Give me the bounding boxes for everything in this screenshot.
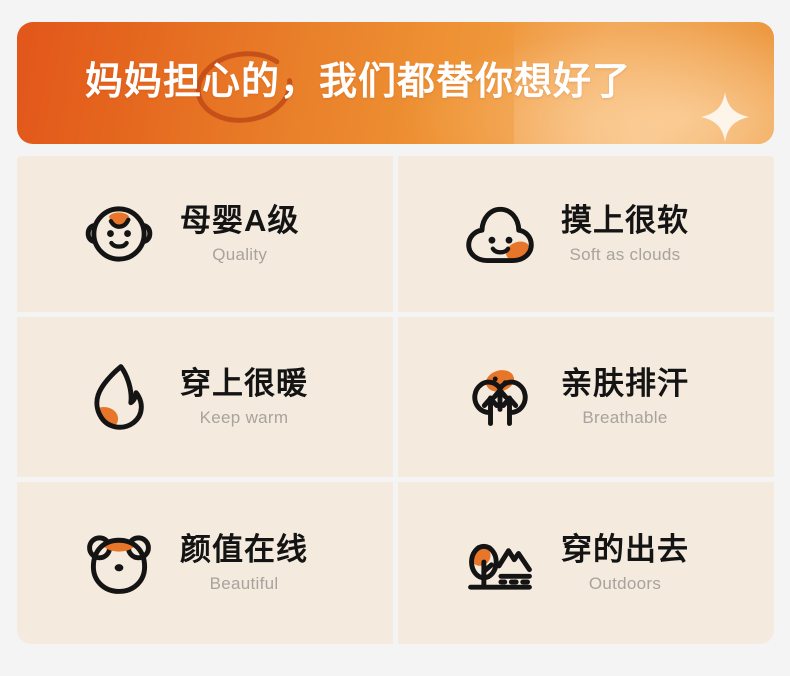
feature-subtitle: Outdoors (589, 573, 661, 595)
feature-subtitle: Quality (212, 244, 267, 266)
feature-card-quality[interactable]: 母婴A级 Quality (17, 156, 393, 312)
feature-subtitle: Soft as clouds (570, 244, 681, 266)
feature-title: 穿的出去 (561, 531, 689, 569)
sparkle-icon (696, 88, 754, 144)
banner-title: 妈妈担心的，我们都替你想好了 (85, 55, 631, 109)
feature-card-outdoors[interactable]: 穿的出去 Outdoors (398, 482, 774, 644)
feature-card-text: 颜值在线 Beautiful (180, 531, 308, 595)
feature-title: 母婴A级 (180, 202, 299, 240)
feature-title: 亲肤排汗 (561, 365, 689, 403)
feature-card-text: 母婴A级 Quality (180, 202, 299, 266)
feature-card-text: 摸上很软 Soft as clouds (561, 202, 689, 266)
flame-icon (80, 358, 158, 436)
feature-title: 穿上很暖 (180, 365, 308, 403)
feature-card-breathable[interactable]: 亲肤排汗 Breathable (398, 317, 774, 477)
feature-card-soft[interactable]: 摸上很软 Soft as clouds (398, 156, 774, 312)
feature-card-beautiful[interactable]: 颜值在线 Beautiful (17, 482, 393, 644)
feature-grid: 母婴A级 Quality (17, 156, 774, 644)
tree-mountain-icon (461, 524, 539, 602)
smiling-cloud-icon (461, 195, 539, 273)
feature-subtitle: Breathable (582, 407, 667, 429)
feature-subtitle: Beautiful (210, 573, 279, 595)
feature-title: 摸上很软 (561, 202, 689, 240)
feature-card-warm[interactable]: 穿上很暖 Keep warm (17, 317, 393, 477)
promo-page: 妈妈担心的，我们都替你想好了 母 (0, 0, 790, 676)
baby-face-icon (80, 195, 158, 273)
feature-title: 颜值在线 (180, 531, 308, 569)
feature-card-text: 穿上很暖 Keep warm (180, 365, 308, 429)
bear-face-icon (80, 524, 158, 602)
feature-card-text: 亲肤排汗 Breathable (561, 365, 689, 429)
feature-card-text: 穿的出去 Outdoors (561, 531, 689, 595)
feature-subtitle: Keep warm (200, 407, 289, 429)
header-banner: 妈妈担心的，我们都替你想好了 (17, 22, 774, 144)
cotton-breathable-icon (461, 358, 539, 436)
